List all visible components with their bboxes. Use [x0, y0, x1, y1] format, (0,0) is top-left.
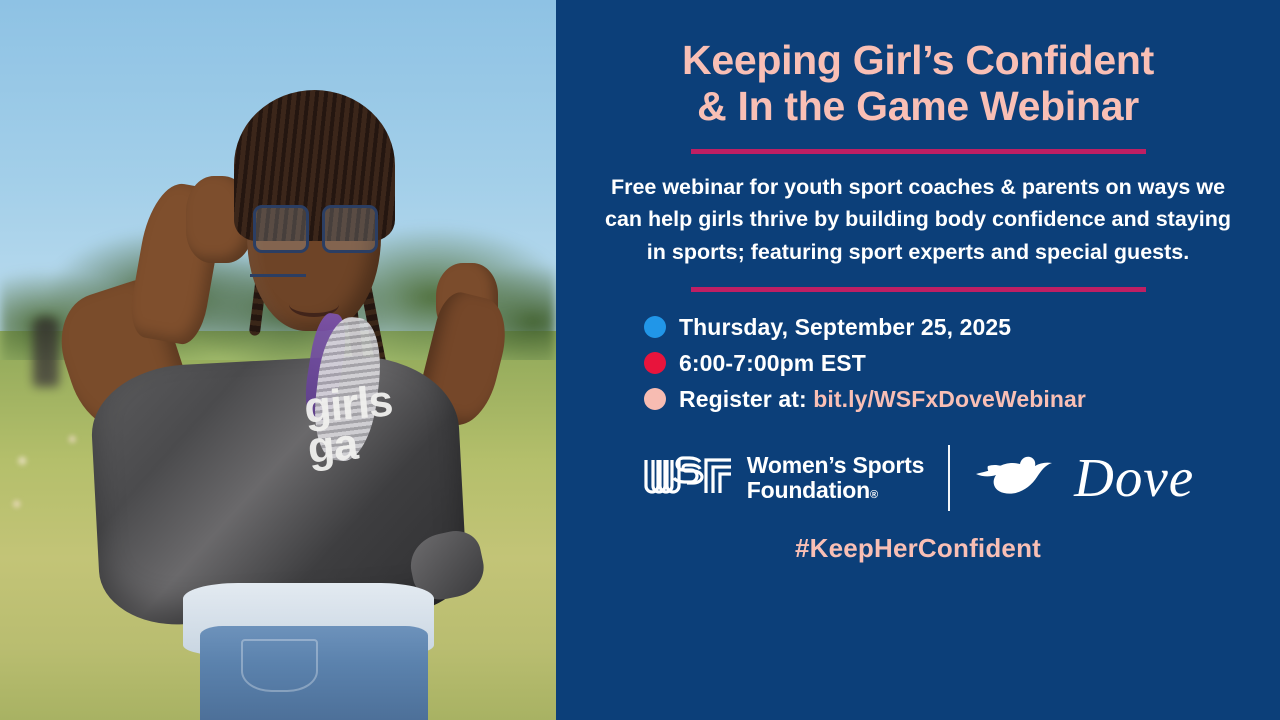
event-description: Free webinar for youth sport coaches & p…	[599, 171, 1237, 269]
bullet-dot-icon	[644, 316, 666, 338]
wsf-wordmark: Women’s Sports Foundation®	[747, 453, 924, 503]
register-label: Register at:	[679, 386, 807, 412]
bullet-dot-icon	[644, 388, 666, 410]
right-lens	[322, 205, 378, 253]
register-link[interactable]: bit.ly/WSFxDoveWebinar	[813, 386, 1086, 412]
logo-lockup: Women’s Sports Foundation® Dove	[642, 439, 1194, 517]
wsf-monogram-icon	[642, 453, 734, 503]
logo-divider	[948, 445, 950, 511]
event-title: Keeping Girl’s Confident & In the Game W…	[682, 38, 1154, 130]
eyeglasses-icon	[253, 205, 378, 253]
detail-row-date: Thursday, September 25, 2025	[644, 314, 1198, 341]
divider-rule-bottom	[691, 287, 1146, 292]
info-panel: Keeping Girl’s Confident & In the Game W…	[556, 0, 1280, 720]
detail-row-time: 6:00-7:00pm EST	[644, 350, 1198, 377]
register-line: Register at: bit.ly/WSFxDoveWebinar	[679, 386, 1086, 413]
left-lens	[253, 205, 309, 253]
campaign-hashtag: #KeepHerConfident	[795, 533, 1041, 564]
glasses-bridge	[250, 274, 306, 278]
registered-mark-icon: ®	[870, 489, 878, 501]
bullet-dot-icon	[644, 352, 666, 374]
divider-rule-top	[691, 149, 1146, 154]
shirt-text: girlsga	[303, 382, 397, 469]
dove-bird-icon	[974, 452, 1060, 503]
wsf-name-line1: Women’s Sports	[747, 452, 924, 478]
detail-row-register[interactable]: Register at: bit.ly/WSFxDoveWebinar	[644, 386, 1198, 413]
title-line-2: & In the Game Webinar	[697, 83, 1139, 129]
shirt-text-line2: ga	[306, 419, 359, 472]
wsf-logo: Women’s Sports Foundation®	[642, 453, 924, 503]
blue-jeans	[200, 626, 428, 720]
wsf-name-line2: Foundation	[747, 477, 870, 503]
title-line-1: Keeping Girl’s Confident	[682, 37, 1154, 83]
event-date: Thursday, September 25, 2025	[679, 314, 1011, 341]
event-details-list: Thursday, September 25, 2025 6:00-7:00pm…	[638, 314, 1198, 413]
girl-subject: girlsga	[0, 0, 556, 720]
dove-logo: Dove	[974, 450, 1194, 505]
hero-photo: girlsga	[0, 0, 556, 720]
event-time: 6:00-7:00pm EST	[679, 350, 866, 377]
dove-wordmark: Dove	[1074, 450, 1194, 505]
